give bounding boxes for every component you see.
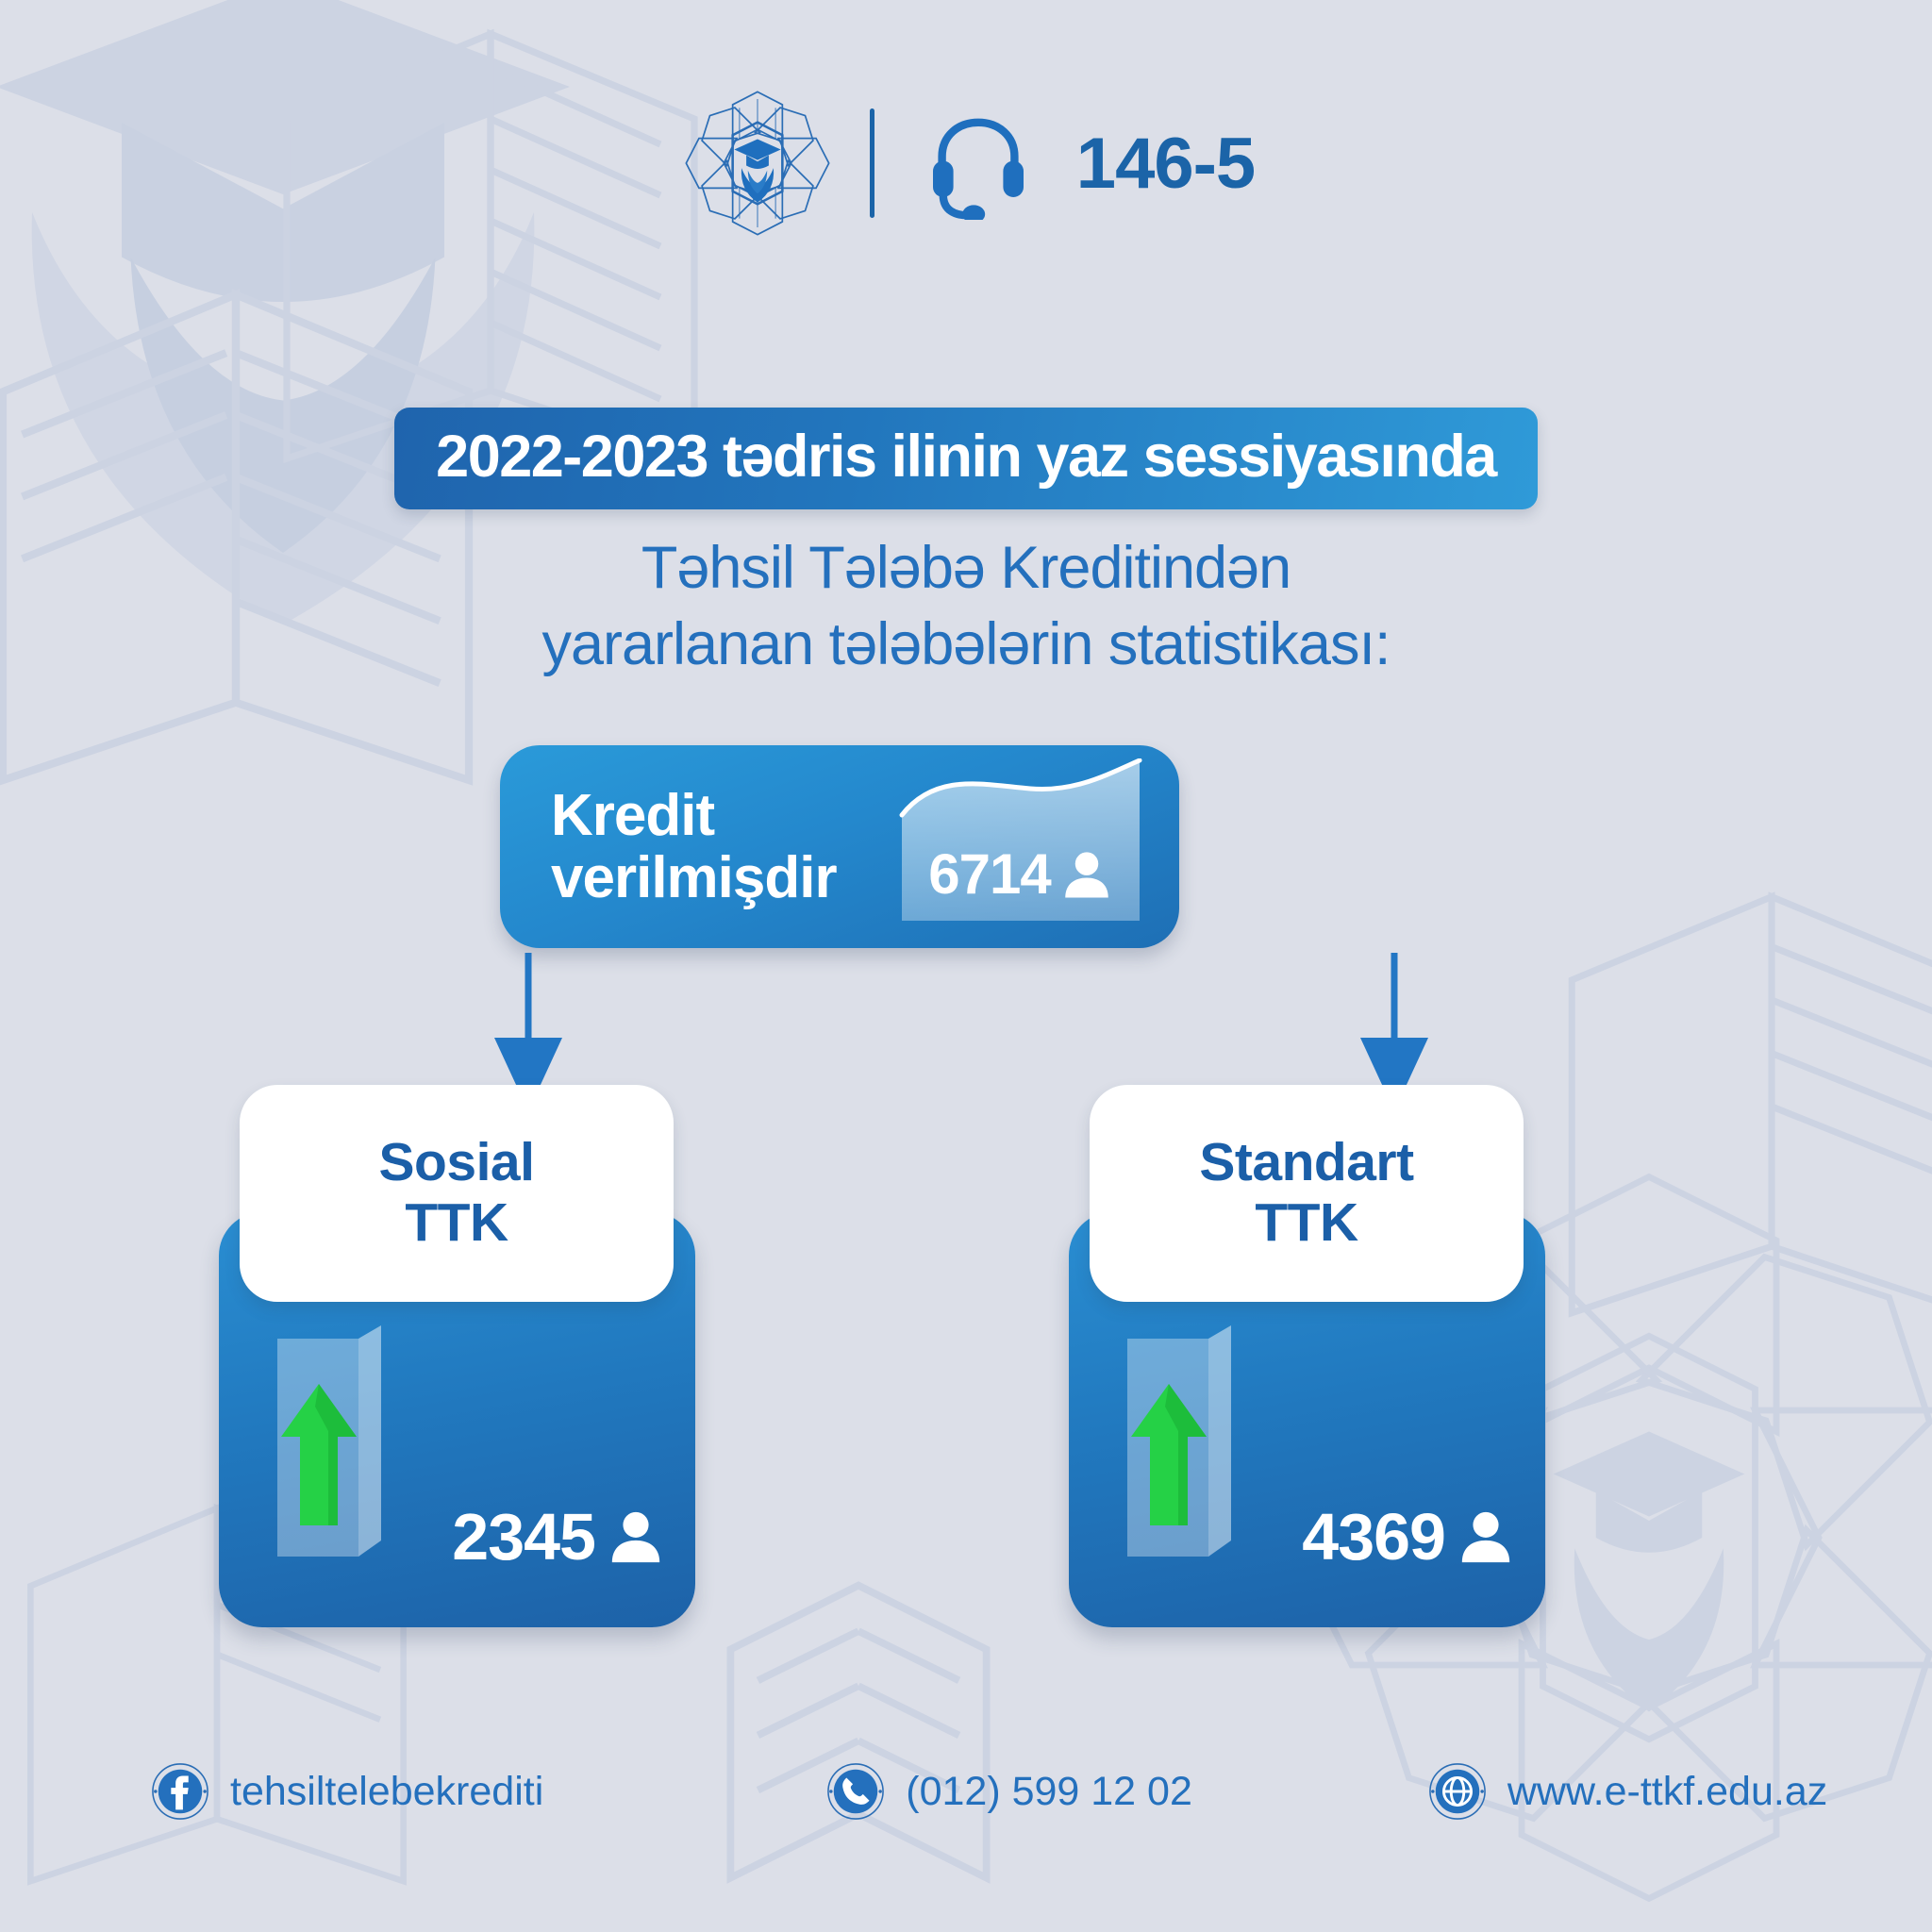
footer-facebook[interactable]: tehsiltelebekrediti [151, 1762, 543, 1821]
title-banner: 2022-2023 tədris ilinin yaz sessiyasında [394, 408, 1538, 509]
stat-title-line-1: Standart [1199, 1132, 1413, 1192]
stat-title-line-2: TTK [405, 1192, 508, 1253]
green-up-arrow-icon [277, 1325, 381, 1557]
header-divider [870, 108, 874, 218]
stat-card-standart-title: Standart TTK [1199, 1133, 1413, 1254]
headset-icon [922, 107, 1035, 220]
stat-card-standart: Standart TTK 4369 [1069, 1212, 1545, 1627]
watermark-open-book-right [1507, 830, 1932, 1396]
credit-value: 6714 [928, 841, 1050, 907]
credit-label-line-1: Kredit [551, 785, 837, 847]
footer-phone-text[interactable]: (012) 599 12 02 [906, 1769, 1192, 1815]
credit-label-line-2: verilmişdir [551, 847, 837, 909]
stat-value: 4369 [1302, 1499, 1445, 1574]
globe-icon[interactable] [1428, 1762, 1487, 1821]
credit-issued-card: Kredit verilmişdir 6714 [500, 745, 1179, 948]
stat-card-standart-header: Standart TTK [1090, 1085, 1524, 1302]
phone-icon[interactable] [826, 1762, 885, 1821]
credit-value-row: 6714 [898, 841, 1143, 907]
subtitle-block: Təhsil Tələbə Kreditindən yararlanan təl… [0, 530, 1932, 682]
stat-card-sosial-value-row: 2345 [452, 1499, 665, 1574]
person-icon [1457, 1507, 1515, 1566]
stat-card-sosial: Sosial TTK 2345 [219, 1212, 695, 1627]
credit-flag-shape: 6714 [898, 758, 1143, 924]
ttkf-emblem-logo [677, 83, 838, 243]
person-icon [607, 1507, 665, 1566]
subtitle-line-2: yararlanan tələbələrin statistikası: [0, 607, 1932, 683]
footer-contact-bar: tehsiltelebekrediti (012) 599 12 02 www.… [0, 1762, 1932, 1821]
credit-issued-label: Kredit verilmişdir [551, 785, 837, 908]
subtitle-line-1: Təhsil Tələbə Kreditindən [0, 530, 1932, 607]
stat-card-sosial-header: Sosial TTK [240, 1085, 674, 1302]
stat-card-sosial-title: Sosial TTK [379, 1133, 535, 1254]
person-icon [1060, 848, 1113, 901]
stat-title-line-1: Sosial [379, 1132, 535, 1192]
green-up-arrow-icon [1127, 1325, 1231, 1557]
footer-facebook-text[interactable]: tehsiltelebekrediti [230, 1769, 543, 1815]
footer-website[interactable]: www.e-ttkf.edu.az [1428, 1762, 1827, 1821]
stat-title-line-2: TTK [1255, 1192, 1357, 1253]
title-block: 2022-2023 tədris ilinin yaz sessiyasında… [0, 408, 1932, 682]
header: 146-5 [0, 83, 1932, 243]
title-banner-text: 2022-2023 tədris ilinin yaz sessiyasında [436, 424, 1496, 490]
stat-value: 2345 [452, 1499, 595, 1574]
stat-card-standart-value-row: 4369 [1302, 1499, 1515, 1574]
facebook-icon[interactable] [151, 1762, 209, 1821]
hotline-number: 146-5 [1076, 123, 1255, 205]
footer-phone[interactable]: (012) 599 12 02 [826, 1762, 1192, 1821]
footer-website-text[interactable]: www.e-ttkf.edu.az [1507, 1769, 1827, 1815]
